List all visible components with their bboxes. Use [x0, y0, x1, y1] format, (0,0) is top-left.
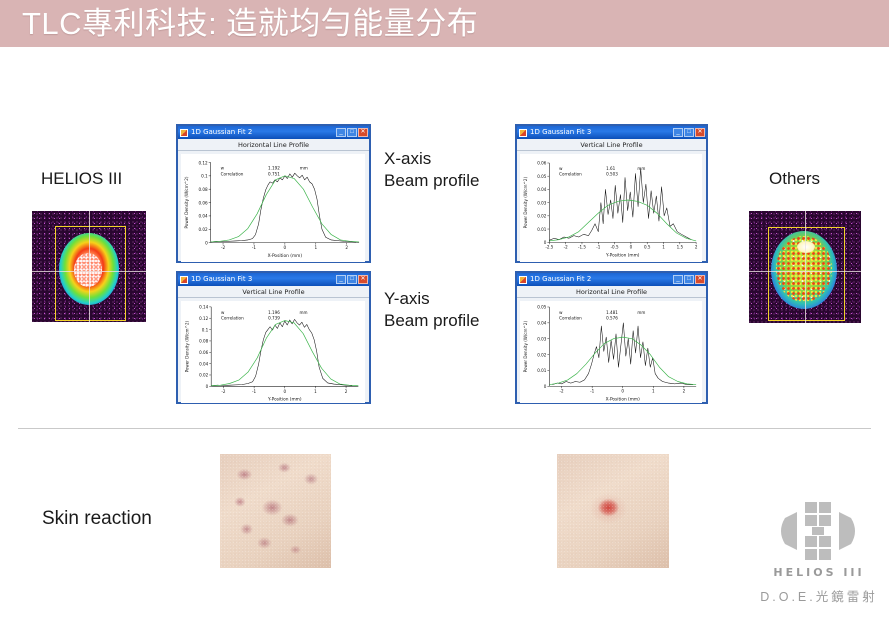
svg-text:1: 1 — [662, 245, 665, 250]
close-button[interactable]: ✕ — [695, 128, 705, 137]
svg-text:1: 1 — [652, 389, 655, 394]
logo-h-mark-svg — [767, 500, 871, 562]
window-controls: _□✕ — [673, 275, 705, 284]
profile-chart: 00.020.040.060.080.10.12-2-1012X-Positio… — [181, 154, 365, 262]
svg-text:Y-Position (mm): Y-Position (mm) — [605, 252, 640, 258]
svg-text:-0.5: -0.5 — [611, 245, 619, 250]
svg-text:0.14: 0.14 — [199, 305, 209, 310]
svg-text:0.06: 0.06 — [537, 161, 547, 166]
svg-text:0: 0 — [205, 240, 208, 245]
svg-text:-2: -2 — [564, 245, 568, 250]
gaussian-fit-window-top-right[interactable]: 1D Gaussian Fit 3_□✕Vertical Line Profil… — [515, 124, 708, 263]
svg-text:-1: -1 — [252, 389, 256, 394]
window-controls: _□✕ — [336, 275, 368, 284]
svg-text:1.192: 1.192 — [268, 165, 280, 170]
svg-text:0.05: 0.05 — [537, 174, 547, 179]
plot-title: Horizontal Line Profile — [178, 139, 369, 151]
maximize-button[interactable]: □ — [684, 128, 694, 137]
window-title: 1D Gaussian Fit 3 — [530, 128, 591, 137]
svg-text:0.04: 0.04 — [198, 214, 208, 219]
svg-text:0.04: 0.04 — [537, 187, 547, 192]
svg-text:0.1: 0.1 — [201, 174, 208, 179]
skin-photo-others — [557, 454, 669, 568]
profile-chart: 00.010.020.030.040.050.06-2.5-2-1.5-1-0.… — [520, 154, 702, 262]
svg-text:Correlation: Correlation — [559, 172, 582, 177]
svg-text:Correlation: Correlation — [221, 316, 244, 321]
window-titlebar[interactable]: 1D Gaussian Fit 3_□✕ — [517, 126, 706, 139]
svg-text:mm: mm — [637, 310, 645, 315]
window-title: 1D Gaussian Fit 3 — [191, 275, 252, 284]
svg-text:X-Position (mm): X-Position (mm) — [606, 396, 640, 402]
svg-text:0.503: 0.503 — [606, 172, 618, 177]
plot-title: Vertical Line Profile — [517, 139, 706, 151]
window-titlebar[interactable]: 1D Gaussian Fit 2_□✕ — [517, 273, 706, 286]
window-titlebar[interactable]: 1D Gaussian Fit 3_□✕ — [178, 273, 369, 286]
svg-text:2: 2 — [695, 245, 698, 250]
plot-area: 00.020.040.060.080.10.12-2-1012X-Positio… — [181, 154, 365, 262]
svg-text:0.01: 0.01 — [537, 227, 547, 232]
svg-text:0: 0 — [630, 245, 633, 250]
svg-text:0.04: 0.04 — [199, 361, 209, 366]
gaussian-fit-window-bottom-left[interactable]: 1D Gaussian Fit 3_□✕Vertical Line Profil… — [176, 271, 371, 404]
svg-text:-2.5: -2.5 — [545, 245, 553, 250]
others-label: Others — [769, 168, 820, 190]
close-button[interactable]: ✕ — [695, 275, 705, 284]
svg-text:mm: mm — [299, 310, 307, 315]
svg-text:X-Position (mm): X-Position (mm) — [268, 253, 303, 259]
app-icon — [519, 276, 527, 284]
svg-text:1: 1 — [314, 389, 317, 394]
gaussian-fit-window-bottom-right[interactable]: 1D Gaussian Fit 2_□✕Horizontal Line Prof… — [515, 271, 708, 404]
crosshair-vertical — [89, 211, 90, 322]
app-icon — [180, 129, 188, 137]
app-icon — [180, 276, 188, 284]
close-button[interactable]: ✕ — [358, 128, 368, 137]
plot-area: 00.020.040.060.080.10.120.14-2-1012Y-Pos… — [181, 301, 365, 403]
logo-brand-text: HELIOS III — [749, 566, 889, 579]
skin-grain — [557, 454, 669, 568]
maximize-button[interactable]: □ — [347, 275, 357, 284]
svg-text:1.481: 1.481 — [606, 310, 618, 315]
y-axis-profile-label: Y-axis Beam profile — [384, 288, 479, 332]
maximize-button[interactable]: □ — [347, 128, 357, 137]
svg-text:w: w — [221, 310, 225, 315]
svg-text:2: 2 — [345, 245, 348, 250]
plot-area: 00.010.020.030.040.050.06-2.5-2-1.5-1-0.… — [520, 154, 702, 262]
window-title: 1D Gaussian Fit 2 — [191, 128, 252, 137]
svg-text:Y-Position (mm): Y-Position (mm) — [267, 397, 302, 403]
svg-text:0.5: 0.5 — [644, 245, 651, 250]
logo-company-text: D.O.E.光鏡雷射 — [749, 586, 889, 605]
minimize-button[interactable]: _ — [673, 128, 683, 137]
crosshair-vertical — [805, 211, 806, 323]
others-beam-profile-image — [749, 211, 861, 323]
svg-text:0: 0 — [544, 384, 547, 389]
svg-text:-2: -2 — [560, 389, 564, 394]
svg-text:0.04: 0.04 — [537, 321, 547, 326]
minimize-button[interactable]: _ — [336, 275, 346, 284]
skin-photo-helios — [220, 454, 331, 568]
svg-text:w: w — [559, 310, 563, 315]
svg-text:-1: -1 — [252, 245, 256, 250]
svg-text:2: 2 — [683, 389, 686, 394]
svg-text:-1: -1 — [596, 245, 600, 250]
window-title: 1D Gaussian Fit 2 — [530, 275, 591, 284]
svg-text:0.12: 0.12 — [199, 316, 209, 321]
page-title: TLC專利科技: 造就均勻能量分布 — [22, 2, 478, 46]
plot-title: Vertical Line Profile — [178, 286, 369, 298]
svg-text:-1.5: -1.5 — [578, 245, 586, 250]
maximize-button[interactable]: □ — [684, 275, 694, 284]
svg-text:0.06: 0.06 — [199, 350, 209, 355]
svg-text:0: 0 — [206, 384, 209, 389]
svg-text:w: w — [221, 165, 225, 170]
svg-text:Correlation: Correlation — [559, 316, 582, 321]
svg-text:Power Density (W/cm^2): Power Density (W/cm^2) — [185, 320, 190, 372]
close-button[interactable]: ✕ — [358, 275, 368, 284]
window-controls: _□✕ — [336, 128, 368, 137]
plot-area: 00.010.020.030.040.05-2-1012X-Position (… — [520, 301, 702, 403]
svg-text:Correlation: Correlation — [221, 171, 244, 176]
svg-text:Power Density (W/cm^2): Power Density (W/cm^2) — [184, 176, 189, 228]
svg-text:0.03: 0.03 — [537, 200, 547, 205]
svg-text:1: 1 — [314, 245, 317, 250]
svg-text:mm: mm — [300, 165, 308, 170]
svg-text:0.12: 0.12 — [198, 160, 208, 165]
svg-text:1.61: 1.61 — [606, 166, 616, 171]
svg-text:0.08: 0.08 — [198, 187, 208, 192]
window-controls: _□✕ — [673, 128, 705, 137]
app-icon — [519, 129, 527, 137]
profile-chart: 00.020.040.060.080.10.120.14-2-1012Y-Pos… — [181, 301, 365, 403]
section-divider — [18, 428, 871, 429]
svg-text:0.576: 0.576 — [606, 316, 618, 321]
roi-box — [55, 226, 126, 321]
svg-text:0.02: 0.02 — [198, 227, 208, 232]
svg-text:0: 0 — [283, 389, 286, 394]
svg-text:0.06: 0.06 — [198, 200, 208, 205]
svg-text:0.1: 0.1 — [202, 327, 209, 332]
helios-logo-icon — [767, 500, 871, 562]
svg-text:0.08: 0.08 — [199, 339, 209, 344]
svg-text:-2: -2 — [221, 389, 225, 394]
svg-text:0.05: 0.05 — [537, 305, 547, 310]
svg-text:mm: mm — [637, 166, 645, 171]
roi-box — [768, 227, 845, 321]
window-titlebar[interactable]: 1D Gaussian Fit 2_□✕ — [178, 126, 369, 139]
svg-text:w: w — [559, 166, 563, 171]
svg-text:-1: -1 — [590, 389, 594, 394]
svg-text:2: 2 — [345, 389, 348, 394]
svg-text:0.02: 0.02 — [537, 352, 547, 357]
helios-logo: HELIOS III D.O.E.光鏡雷射 — [749, 500, 889, 605]
svg-text:0.02: 0.02 — [537, 214, 547, 219]
header-banner: TLC專利科技: 造就均勻能量分布 — [0, 0, 889, 47]
svg-text:0: 0 — [621, 389, 624, 394]
svg-text:1.5: 1.5 — [677, 245, 684, 250]
svg-text:0.03: 0.03 — [537, 336, 547, 341]
svg-text:Power Density (W/cm^2): Power Density (W/cm^2) — [523, 320, 528, 372]
minimize-button[interactable]: _ — [336, 128, 346, 137]
minimize-button[interactable]: _ — [673, 275, 683, 284]
x-axis-profile-label: X-axis Beam profile — [384, 148, 479, 192]
svg-text:-2: -2 — [221, 245, 225, 250]
skin-reaction-label: Skin reaction — [42, 508, 152, 530]
svg-text:1.196: 1.196 — [268, 310, 280, 315]
svg-text:0.01: 0.01 — [537, 368, 547, 373]
svg-text:0.02: 0.02 — [199, 373, 209, 378]
svg-text:0.751: 0.751 — [268, 171, 280, 176]
svg-text:0: 0 — [284, 245, 287, 250]
gaussian-fit-window-top-left[interactable]: 1D Gaussian Fit 2_□✕Horizontal Line Prof… — [176, 124, 371, 263]
profile-chart: 00.010.020.030.040.05-2-1012X-Position (… — [520, 301, 702, 403]
plot-title: Horizontal Line Profile — [517, 286, 706, 298]
helios-beam-profile-image — [32, 211, 146, 322]
svg-text:0.739: 0.739 — [268, 316, 280, 321]
skin-grain — [220, 454, 331, 568]
svg-text:Power Density (W/cm^2): Power Density (W/cm^2) — [523, 176, 528, 228]
helios-label: HELIOS III — [41, 168, 122, 190]
